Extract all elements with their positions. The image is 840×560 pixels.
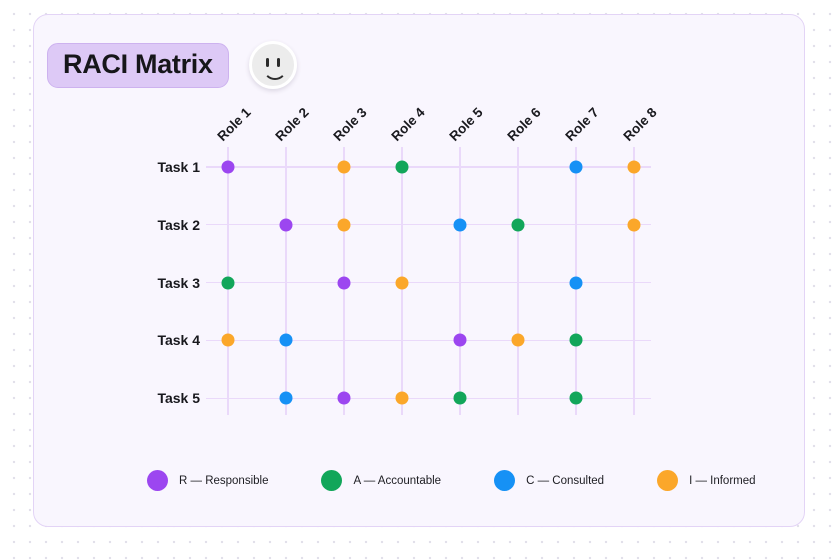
matrix-dot[interactable] — [338, 276, 351, 289]
legend-swatch-r — [147, 470, 168, 491]
row-label-task-5: Task 5 — [116, 390, 200, 406]
matrix-dot[interactable] — [512, 334, 525, 347]
legend-label-r: R — Responsible — [179, 475, 268, 487]
matrix-dot[interactable] — [338, 218, 351, 231]
legend: R — ResponsibleA — AccountableC — Consul… — [147, 470, 756, 491]
column-label-role-1: Role 1 — [214, 105, 253, 144]
legend-label-c: C — Consulted — [526, 475, 604, 487]
matrix-dot[interactable] — [628, 161, 641, 174]
column-label-role-2: Role 2 — [272, 105, 311, 144]
matrix-dot[interactable] — [396, 161, 409, 174]
matrix-dot[interactable] — [338, 161, 351, 174]
legend-swatch-c — [494, 470, 515, 491]
row-label-task-2: Task 2 — [116, 217, 200, 233]
row-label-task-4: Task 4 — [116, 332, 200, 348]
column-label-role-4: Role 4 — [388, 105, 427, 144]
grid-line-horizontal — [206, 398, 651, 399]
row-label-task-1: Task 1 — [116, 159, 200, 175]
legend-swatch-i — [657, 470, 678, 491]
raci-matrix-card: RACI Matrix Role 1Role 2Role 3Role 4Role… — [33, 14, 805, 527]
matrix-dot[interactable] — [280, 392, 293, 405]
column-label-role-7: Role 7 — [562, 105, 601, 144]
matrix-dot[interactable] — [280, 218, 293, 231]
column-label-role-8: Role 8 — [620, 105, 659, 144]
matrix-dot[interactable] — [454, 218, 467, 231]
legend-item-c[interactable]: C — Consulted — [494, 470, 604, 491]
matrix-dot[interactable] — [396, 392, 409, 405]
matrix-dot[interactable] — [570, 392, 583, 405]
matrix-dot[interactable] — [396, 276, 409, 289]
legend-label-i: I — Informed — [689, 475, 755, 487]
matrix-dot[interactable] — [570, 161, 583, 174]
legend-label-a: A — Accountable — [353, 475, 441, 487]
column-label-role-6: Role 6 — [504, 105, 543, 144]
matrix-dot[interactable] — [222, 334, 235, 347]
column-label-role-3: Role 3 — [330, 105, 369, 144]
matrix-dot[interactable] — [280, 334, 293, 347]
grid-line-horizontal — [206, 282, 651, 283]
column-label-role-5: Role 5 — [446, 105, 485, 144]
legend-item-r[interactable]: R — Responsible — [147, 470, 268, 491]
matrix-dot[interactable] — [570, 276, 583, 289]
matrix-dot[interactable] — [512, 218, 525, 231]
legend-swatch-a — [321, 470, 342, 491]
row-label-task-3: Task 3 — [116, 275, 200, 291]
matrix-dot[interactable] — [454, 334, 467, 347]
matrix-dot[interactable] — [628, 218, 641, 231]
legend-item-i[interactable]: I — Informed — [657, 470, 755, 491]
grid-line-horizontal — [206, 340, 651, 341]
grid-line-horizontal — [206, 166, 651, 167]
matrix-plot: Role 1Role 2Role 3Role 4Role 5Role 6Role… — [34, 15, 806, 528]
matrix-dot[interactable] — [338, 392, 351, 405]
matrix-dot[interactable] — [570, 334, 583, 347]
legend-item-a[interactable]: A — Accountable — [321, 470, 441, 491]
grid-line-horizontal — [206, 224, 651, 225]
matrix-dot[interactable] — [222, 276, 235, 289]
matrix-dot[interactable] — [222, 161, 235, 174]
matrix-dot[interactable] — [454, 392, 467, 405]
